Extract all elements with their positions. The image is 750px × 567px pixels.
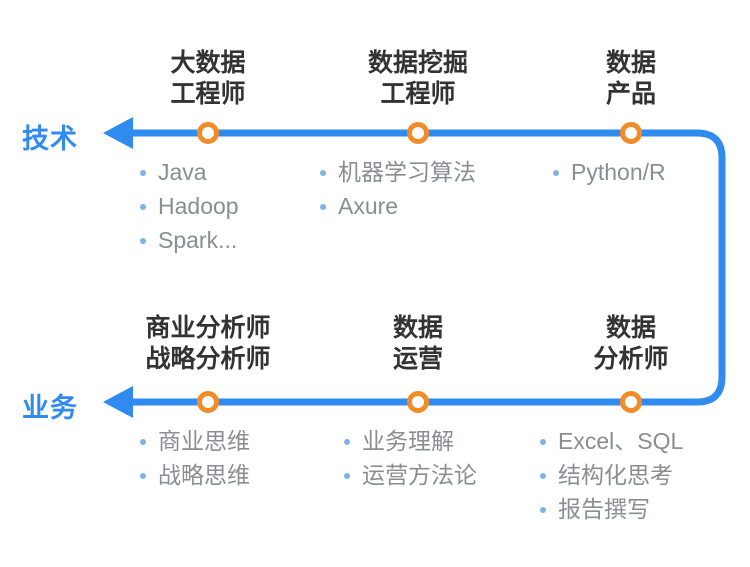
bullet-dot-icon <box>540 507 546 513</box>
bullet-dot-icon <box>140 170 146 176</box>
skill-label: 战略思维 <box>158 462 250 488</box>
list-item: 商业思维 <box>140 424 250 458</box>
list-item: 报告撰写 <box>540 492 683 526</box>
node-title-line: 战略分析师 <box>145 344 270 375</box>
skill-list-business-strategy-analyst: 商业思维 战略思维 <box>140 424 250 492</box>
skill-label: Spark... <box>158 227 237 253</box>
bullet-dot-icon <box>344 439 350 445</box>
node-title-line: 运营 <box>393 344 443 375</box>
list-item: 业务理解 <box>344 424 477 458</box>
bullet-dot-icon <box>320 170 326 176</box>
node-title-line: 数据 <box>593 313 668 344</box>
node-title-line: 数据 <box>606 48 656 79</box>
node-title-line: 产品 <box>606 79 656 110</box>
skill-label: 业务理解 <box>362 428 454 454</box>
skill-label: 运营方法论 <box>362 462 477 488</box>
skill-list-data-product: Python/R <box>553 155 666 189</box>
skill-label: Java <box>158 159 207 185</box>
node-title-data-operations: 数据 运营 <box>393 313 443 375</box>
skill-list-data-analyst: Excel、SQL 结构化思考 报告撰写 <box>540 424 683 526</box>
node-title-data-analyst: 数据 分析师 <box>593 313 668 375</box>
bullet-dot-icon <box>540 439 546 445</box>
bullet-dot-icon <box>140 439 146 445</box>
axis-label-business: 业务 <box>22 386 78 425</box>
skill-list-data-mining-engineer: 机器学习算法 Axure <box>320 155 476 223</box>
list-item: 战略思维 <box>140 458 250 492</box>
node-title-line: 数据 <box>393 313 443 344</box>
node-title-big-data-engineer: 大数据 工程师 <box>170 48 245 110</box>
skill-label: Excel、SQL <box>558 428 683 454</box>
axis-label-technology: 技术 <box>22 117 78 156</box>
node-title-line: 大数据 <box>170 48 245 79</box>
list-item: Java <box>140 155 239 189</box>
list-item: Hadoop <box>140 189 239 223</box>
bullet-dot-icon <box>140 204 146 210</box>
skill-list-data-operations: 业务理解 运营方法论 <box>344 424 477 492</box>
node-title-line: 数据挖掘 <box>368 48 468 79</box>
node-title-line: 分析师 <box>593 344 668 375</box>
node-title-business-strategy-analyst: 商业分析师 战略分析师 <box>145 313 270 375</box>
node-title-line: 工程师 <box>368 79 468 110</box>
list-item: Python/R <box>553 155 666 189</box>
node-title-line: 商业分析师 <box>145 313 270 344</box>
bullet-dot-icon <box>553 170 559 176</box>
bullet-dot-icon <box>320 204 326 210</box>
skill-label: 商业思维 <box>158 428 250 454</box>
node-title-data-mining-engineer: 数据挖掘 工程师 <box>368 48 468 110</box>
skill-label: Hadoop <box>158 193 239 219</box>
list-item: Excel、SQL <box>540 424 683 458</box>
diagram-canvas: 技术 业务 大数据 工程师 数据挖掘 工程师 数据 产品 Java Hadoop… <box>0 0 750 567</box>
skill-list-big-data-engineer: Java Hadoop Spark... <box>140 155 239 257</box>
list-item: 机器学习算法 <box>320 155 476 189</box>
list-item: 运营方法论 <box>344 458 477 492</box>
skill-label: Python/R <box>571 159 666 185</box>
bullet-dot-icon <box>344 473 350 479</box>
skill-label: 结构化思考 <box>558 462 673 488</box>
bullet-dot-icon <box>540 473 546 479</box>
node-title-line: 工程师 <box>170 79 245 110</box>
skill-label: Axure <box>338 193 398 219</box>
bullet-dot-icon <box>140 238 146 244</box>
node-title-data-product: 数据 产品 <box>606 48 656 110</box>
list-item: 结构化思考 <box>540 458 683 492</box>
bullet-dot-icon <box>140 473 146 479</box>
skill-label: 报告撰写 <box>558 496 650 522</box>
list-item: Spark... <box>140 223 239 257</box>
list-item: Axure <box>320 189 476 223</box>
skill-label: 机器学习算法 <box>338 159 476 185</box>
